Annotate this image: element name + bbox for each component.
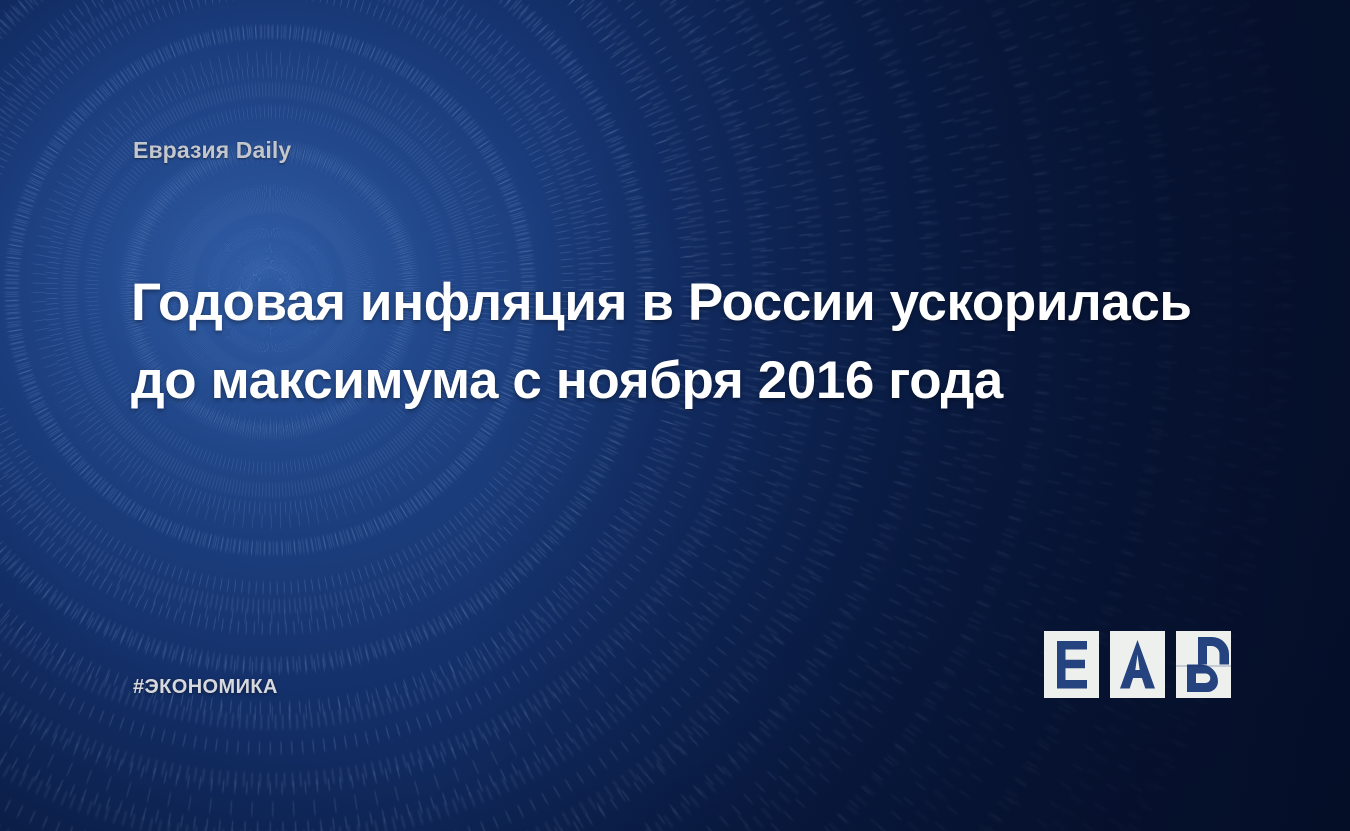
article-cover-card: Евразия Daily Годовая инфляция в России … [0,0,1350,831]
category-tag[interactable]: #ЭКОНОМИКА [133,676,278,699]
site-name[interactable]: Евразия Daily [133,137,291,164]
page-title: Годовая инфляция в России ускорилась до … [131,264,1251,420]
logo-tile-e [1044,631,1099,698]
cover-content: Евразия Daily Годовая инфляция в России … [0,0,1350,831]
letter-d-split-glyph [1176,631,1231,698]
logo-tile-a [1110,631,1165,698]
headline-line-2: до максимума с ноября 2016 года [131,351,1003,410]
letter-a-glyph [1110,631,1165,698]
letter-e-glyph [1044,631,1099,698]
logo-tile-d-split [1176,631,1231,698]
eadaily-logo[interactable] [1044,631,1231,698]
headline-line-1: Годовая инфляция в России ускорилась [131,273,1192,332]
